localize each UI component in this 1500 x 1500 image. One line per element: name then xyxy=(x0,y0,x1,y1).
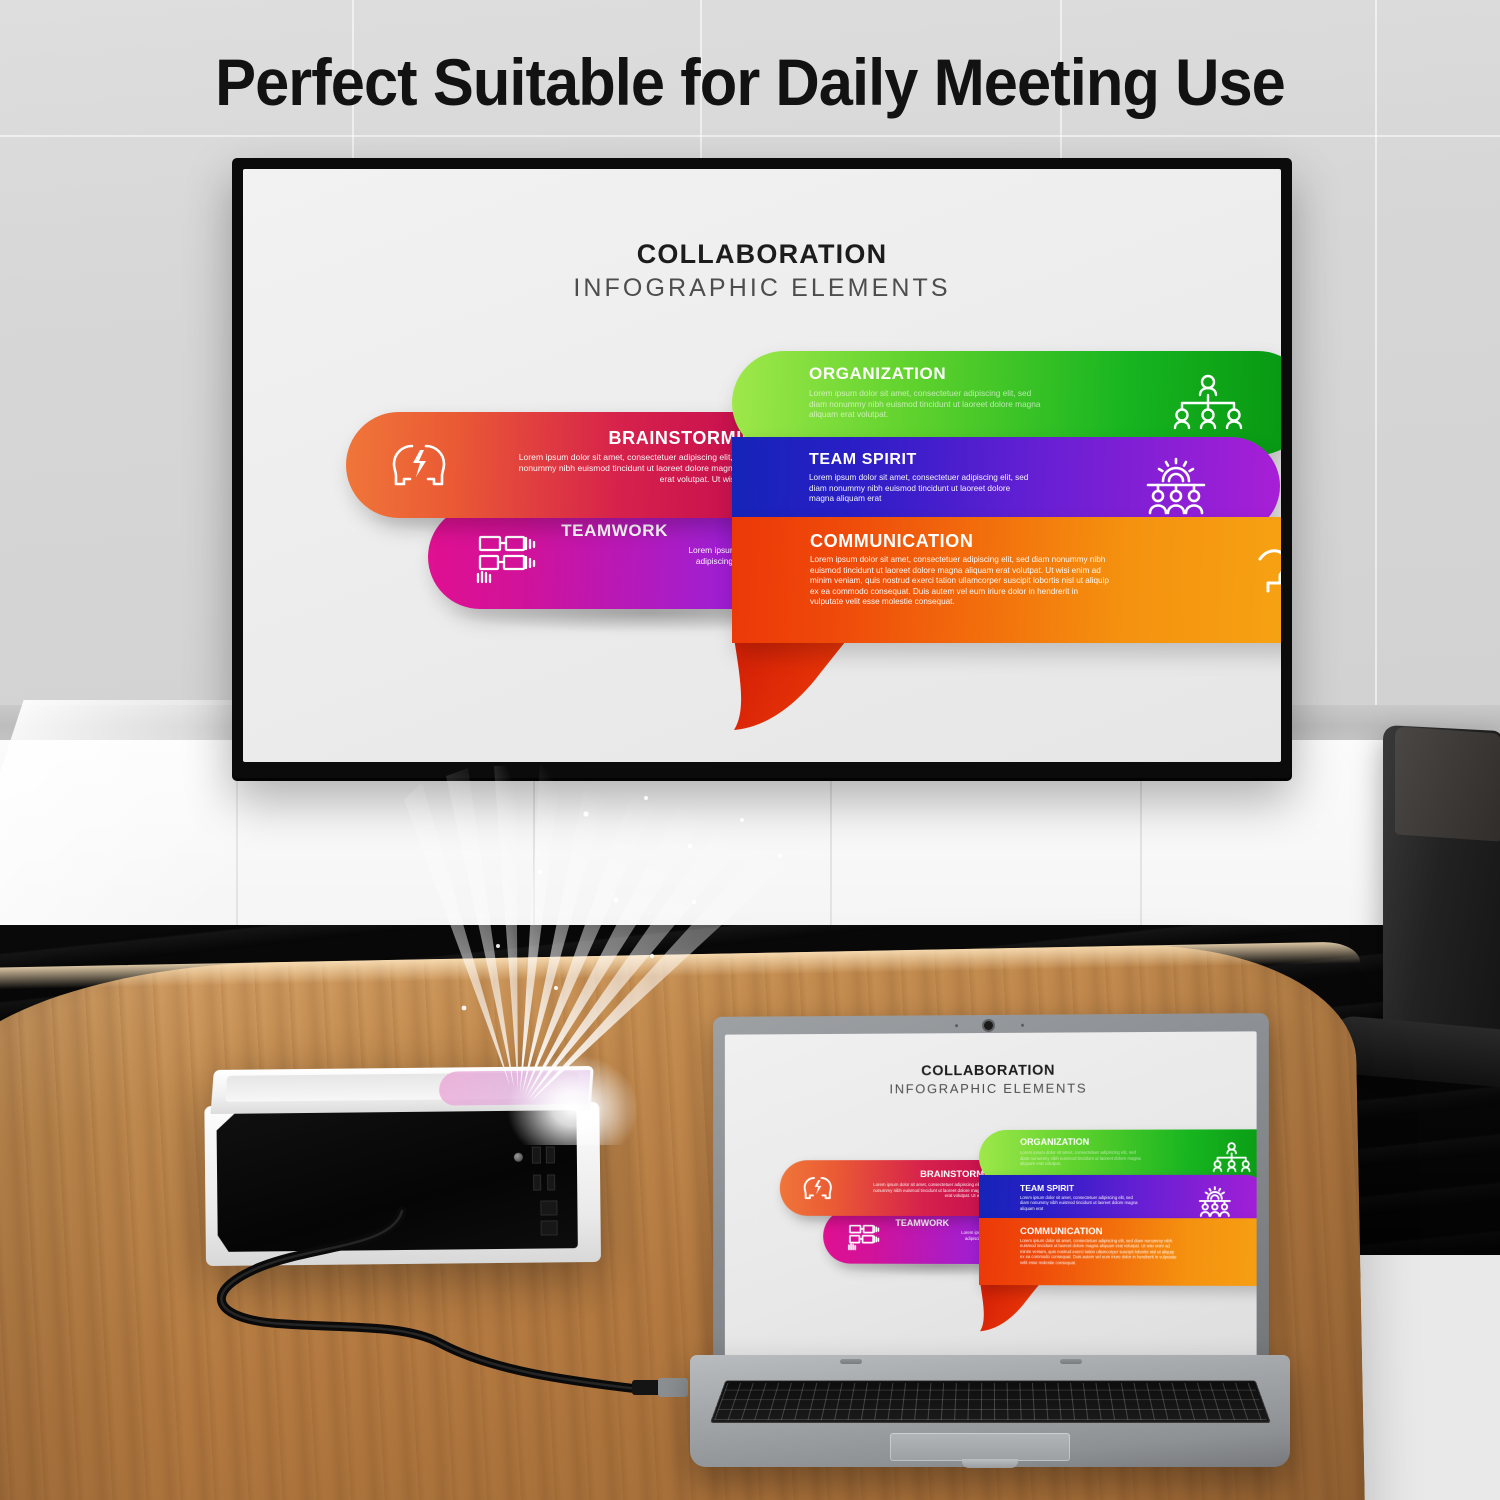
webcam-indicator-icon xyxy=(955,1024,958,1027)
webcam-icon xyxy=(984,1021,993,1030)
head-lightning-icon xyxy=(388,441,450,489)
pod-body: Lorem ipsum dolor sit amet, consectetuer… xyxy=(809,388,1043,420)
pod-brainstorming[interactable]: BRAINSTORMING Lorem ipsum dolor sit amet… xyxy=(346,412,794,518)
speech-profiles-icon xyxy=(1254,545,1281,615)
laptop-front-latch xyxy=(962,1459,1018,1468)
pod-title: TEAM SPIRIT xyxy=(809,451,917,469)
head-lightning-icon xyxy=(801,1175,834,1201)
laptop[interactable]: COLLABORATION INFOGRAPHIC ELEMENTS ORGAN… xyxy=(690,1015,1290,1485)
hdmi-port[interactable] xyxy=(547,1174,555,1190)
pod-title: TEAMWORK xyxy=(895,1218,949,1228)
hdmi-port[interactable] xyxy=(533,1175,541,1191)
hdmi-cable xyxy=(140,1205,700,1455)
pod-communication[interactable]: COMMUNICATION Lorem ipsum dolor sit amet… xyxy=(979,1218,1257,1286)
pod-body: Lorem ipsum dolor sit amet, consectetuer… xyxy=(1020,1150,1144,1167)
projector-lens-flare xyxy=(508,1055,638,1145)
infographic-subtitle: INFOGRAPHIC ELEMENTS xyxy=(725,1080,1257,1097)
office-chair-headrest xyxy=(1395,726,1500,841)
laptop-trackpad[interactable] xyxy=(890,1433,1070,1461)
org-chart-icon xyxy=(1210,1141,1254,1173)
pod-communication[interactable]: COMMUNICATION Lorem ipsum dolor sit amet… xyxy=(732,517,1281,643)
laptop-display[interactable]: COLLABORATION INFOGRAPHIC ELEMENTS ORGAN… xyxy=(725,1031,1257,1359)
wall-mounted-tv[interactable]: COLLABORATION INFOGRAPHIC ELEMENTS ORGAN… xyxy=(232,158,1292,778)
pod-body: Lorem ipsum dolor sit amet, consectetuer… xyxy=(810,555,1110,608)
infographic-title: COLLABORATION xyxy=(725,1062,1257,1081)
pod-body: Lorem ipsum dolor sit amet, consectetuer… xyxy=(1020,1195,1138,1211)
pod-title: ORGANIZATION xyxy=(809,364,946,384)
tv-display-panel: COLLABORATION INFOGRAPHIC ELEMENTS ORGAN… xyxy=(243,169,1281,762)
pod-title: TEAMWORK xyxy=(561,521,668,541)
pod-body: Lorem ipsum dolor sit amet, consectetuer… xyxy=(1020,1238,1179,1265)
wall-seam xyxy=(0,135,1500,137)
puzzle-hands-icon xyxy=(848,1223,881,1251)
page-headline: Perfect Suitable for Daily Meeting Use xyxy=(53,44,1448,120)
webcam-indicator-icon xyxy=(1021,1024,1024,1027)
hinge-nub xyxy=(1060,1359,1082,1364)
laptop-lid: COLLABORATION INFOGRAPHIC ELEMENTS ORGAN… xyxy=(713,1013,1269,1372)
infographic-laptop: COLLABORATION INFOGRAPHIC ELEMENTS ORGAN… xyxy=(725,1031,1257,1359)
scene-root: COLLABORATION INFOGRAPHIC ELEMENTS ORGAN… xyxy=(0,0,1500,1500)
power-led-icon xyxy=(514,1153,523,1162)
org-chart-icon xyxy=(1168,373,1248,433)
pod-body: Lorem ipsum dolor sit amet, consectetuer… xyxy=(809,473,1031,505)
keyboard-keys xyxy=(714,1383,1267,1420)
usb-port[interactable] xyxy=(532,1147,541,1164)
infographic-tv: COLLABORATION INFOGRAPHIC ELEMENTS ORGAN… xyxy=(243,169,1281,762)
laptop-keyboard[interactable] xyxy=(710,1380,1271,1422)
infographic-subtitle: INFOGRAPHIC ELEMENTS xyxy=(243,274,1281,303)
gear-people-icon xyxy=(1196,1185,1235,1218)
gear-people-icon xyxy=(1140,455,1212,517)
hinge-nub xyxy=(840,1359,862,1364)
pod-title: TEAM SPIRIT xyxy=(1020,1183,1074,1193)
pod-title: ORGANIZATION xyxy=(1020,1137,1089,1147)
usb-port[interactable] xyxy=(546,1146,555,1163)
puzzle-hands-icon xyxy=(476,532,538,584)
pod-title: COMMUNICATION xyxy=(810,531,973,552)
pod-title: COMMUNICATION xyxy=(1020,1226,1103,1237)
infographic-title: COLLABORATION xyxy=(243,239,1281,270)
